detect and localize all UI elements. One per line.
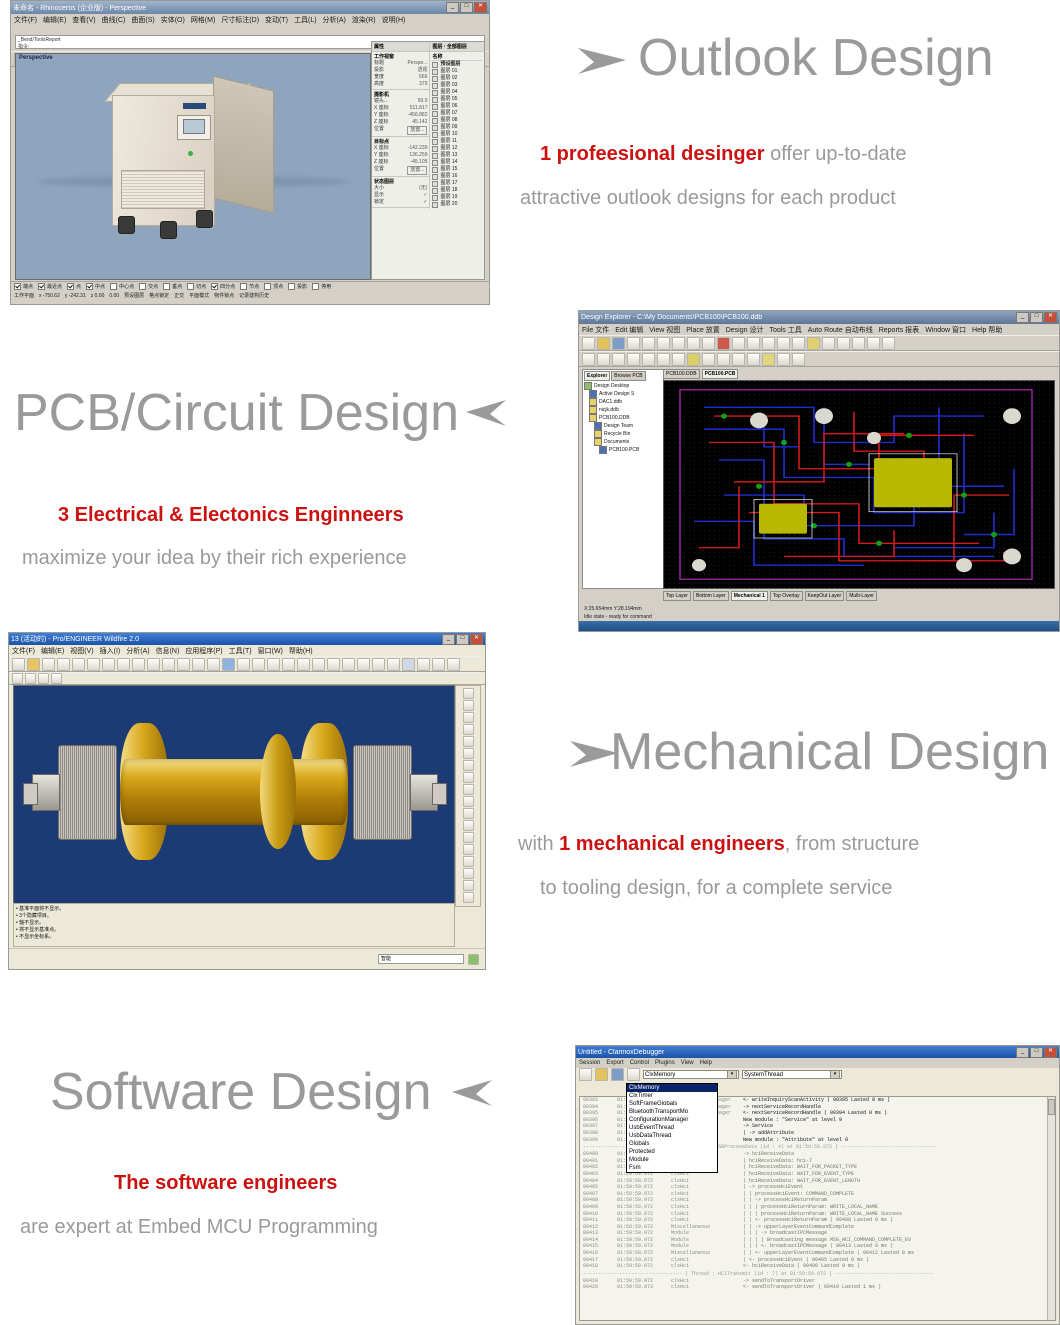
rect-icon[interactable] [762, 337, 775, 350]
datum-axis-icon[interactable] [417, 658, 430, 671]
pcb-layer-tabs[interactable]: Top LayerBottom LayerMechanical 1Top Ove… [663, 591, 1055, 601]
array-icon[interactable] [777, 353, 790, 366]
tree-node[interactable]: Documents [584, 438, 662, 446]
osnap-checkbox[interactable] [288, 283, 295, 290]
maximize-icon[interactable]: □ [460, 2, 473, 13]
osnap-item[interactable]: 点 [67, 283, 81, 290]
cad-menu-8[interactable]: 变动(T) [265, 15, 288, 25]
proe-menu-item[interactable]: 信息(N) [156, 646, 180, 656]
layer-visibility-icon[interactable] [432, 160, 438, 166]
proe-right-toolbar[interactable] [455, 685, 481, 907]
help-icon[interactable] [882, 337, 895, 350]
tree-node[interactable]: Design Desktop [584, 382, 662, 390]
layer-visibility-icon[interactable] [432, 125, 438, 131]
proe-menubar[interactable]: 文件(F)编辑(E)视图(V)插入(I)分析(A)信息(N)应用程序(P)工具(… [9, 645, 485, 656]
cad-menubar[interactable]: 文件(F) 编辑(E) 查看(V) 曲线(C) 曲面(S) 实体(O) 网格(M… [11, 14, 489, 25]
close-icon[interactable]: ✕ [470, 634, 483, 645]
pcb-menu-item[interactable]: Edit 编辑 [615, 325, 643, 335]
layer-item[interactable]: 预设图层 [432, 61, 482, 68]
layer-item[interactable]: 图层 10 [432, 131, 482, 138]
pcb-menu-item[interactable]: Reports 报表 [879, 325, 919, 335]
cad-menu-11[interactable]: 渲染(R) [352, 15, 376, 25]
cad-menu-5[interactable]: 实体(O) [161, 15, 185, 25]
circle-icon[interactable] [747, 353, 760, 366]
fill-icon[interactable] [687, 353, 700, 366]
proe-menu-item[interactable]: 文件(F) [12, 646, 35, 656]
doc-tab-pcb[interactable]: PCB100.PCB [702, 369, 739, 379]
shading-icon[interactable] [402, 658, 415, 671]
copy-icon[interactable] [702, 337, 715, 350]
track-icon[interactable] [612, 353, 625, 366]
maximize-icon[interactable]: □ [1030, 312, 1043, 323]
tree-node[interactable]: PCB100.DDB [584, 414, 662, 422]
log-message: | hciReceiveData: WAIT_FOR_EVENT_TYPE [743, 1171, 854, 1178]
proe-window-buttons[interactable]: _ □ ✕ [442, 634, 483, 645]
delete-icon[interactable] [777, 337, 790, 350]
no-hidden-icon[interactable] [387, 658, 400, 671]
regenerate-icon[interactable] [177, 658, 190, 671]
osnap-row[interactable]: 端点最近点点中点中心点交点垂点切点四分点节点顶点投影停用 [11, 282, 489, 291]
csys-tool-icon[interactable] [463, 736, 474, 747]
mirror-tool-icon[interactable] [463, 880, 474, 891]
proe-menu-item[interactable]: 窗口(W) [258, 646, 283, 656]
wireframe-icon[interactable] [357, 658, 370, 671]
layer-visibility-icon[interactable] [432, 90, 438, 96]
layer-item[interactable]: 图层 12 [432, 145, 482, 152]
dropdown-option[interactable]: ClxTimer [627, 1092, 717, 1100]
tab-browse-pcb[interactable]: Browse PCB [611, 371, 645, 381]
layer-visibility-icon[interactable] [432, 132, 438, 138]
chevron-down-icon[interactable]: ▾ [830, 1070, 840, 1079]
print-icon[interactable] [627, 1068, 640, 1081]
dropdown-option[interactable]: Globals [627, 1140, 717, 1148]
copy-icon[interactable] [147, 658, 160, 671]
print-icon[interactable] [627, 337, 640, 350]
osnap-item[interactable]: 交点 [139, 283, 158, 290]
module-filter-dropdown[interactable]: ClxMemoryClxTimerSoftFrameGlobalsBluetoo… [626, 1083, 718, 1173]
osnap-checkbox[interactable] [38, 283, 45, 290]
scrollbar-thumb[interactable] [1048, 1099, 1055, 1115]
layer-visibility-icon[interactable] [432, 118, 438, 124]
layer-item[interactable]: 图层 02 [432, 75, 482, 82]
print-icon[interactable] [57, 658, 70, 671]
dropdown-option[interactable]: ClxMemory [627, 1084, 717, 1092]
pcb-menu-item[interactable]: View 视图 [649, 325, 680, 335]
merge-tool-icon[interactable] [463, 892, 474, 903]
reorient-icon[interactable] [312, 658, 325, 671]
osnap-checkbox[interactable] [139, 283, 146, 290]
cad-status-area: 端点最近点点中点中心点交点垂点切点四分点节点顶点投影停用 工作平面x -750.… [11, 281, 489, 304]
tree-node[interactable]: nicjk.ddb [584, 406, 662, 414]
dropdown-option[interactable]: UsbEventThread [627, 1124, 717, 1132]
pcb-tree[interactable]: Design DesktopActive Design SDAC1.ddbnic… [584, 382, 662, 454]
via-icon[interactable] [597, 353, 610, 366]
prop-row-button[interactable]: 位置放置... [374, 166, 427, 175]
debugger-menu-item[interactable]: Export [606, 1060, 623, 1066]
cad-menu-4[interactable]: 曲面(S) [131, 15, 154, 25]
minimize-icon[interactable]: _ [1016, 1047, 1029, 1058]
layer-visibility-icon[interactable] [432, 111, 438, 117]
redo-icon[interactable] [117, 658, 130, 671]
cad-window[interactable]: 未命名 - Rhinoceros (企业版) - Perspective _ □… [10, 0, 490, 305]
layer-visibility-icon[interactable] [432, 153, 438, 159]
log-message: | hciReceiveData: WAIT_FOR_EVENT_LENGTH [743, 1178, 860, 1185]
refit-icon[interactable] [297, 658, 310, 671]
revolve-tool-icon[interactable] [463, 760, 474, 771]
redo-icon[interactable] [867, 337, 880, 350]
osnap-checkbox[interactable] [163, 283, 170, 290]
tree-node[interactable]: Active Design S [584, 390, 662, 398]
save-icon[interactable] [612, 337, 625, 350]
maximize-icon[interactable]: □ [1030, 1047, 1043, 1058]
proe-menu-item[interactable]: 分析(A) [126, 646, 149, 656]
axis-tool-icon[interactable] [463, 712, 474, 723]
layer-tab[interactable]: Bottom Layer [693, 591, 729, 601]
layer-visibility-icon[interactable] [432, 97, 438, 103]
cad-menu-1[interactable]: 编辑(E) [43, 15, 66, 25]
zoom-area-icon[interactable] [672, 337, 685, 350]
layer-visibility-icon[interactable] [432, 139, 438, 145]
proe-menu-item[interactable]: 工具(T) [229, 646, 252, 656]
osnap-item[interactable]: 四分点 [211, 283, 235, 290]
save-icon[interactable] [42, 658, 55, 671]
layer-icon[interactable] [342, 658, 355, 671]
cad-menu-9[interactable]: 工具(L) [294, 15, 317, 25]
datum-plane-icon[interactable] [252, 658, 265, 671]
layer-visibility-icon[interactable] [432, 167, 438, 173]
cad-menu-2[interactable]: 查看(V) [72, 15, 95, 25]
dropdown-option[interactable]: Fsm [627, 1164, 717, 1172]
osnap-checkbox[interactable] [67, 283, 74, 290]
plot-icon[interactable] [72, 658, 85, 671]
string-icon[interactable] [627, 353, 640, 366]
pcb-taskbar [579, 621, 1059, 631]
osnap-item[interactable]: 中点 [86, 283, 105, 290]
log-id: 00407 [580, 1191, 617, 1198]
dropdown-option[interactable]: SoftFrameGlobals [627, 1100, 717, 1108]
layer-visibility-icon[interactable] [432, 104, 438, 110]
layer-tab[interactable]: Top Layer [663, 591, 691, 601]
pcb-menu-item[interactable]: Place 放置 [686, 325, 719, 335]
dropdown-option[interactable]: Protected [627, 1148, 717, 1156]
pad-icon[interactable] [582, 353, 595, 366]
layer-visibility-icon[interactable] [432, 146, 438, 152]
zoom-in-icon[interactable] [267, 658, 280, 671]
pcb-menu-item[interactable]: Window 窗口 [925, 325, 966, 335]
osnap-checkbox[interactable] [110, 283, 117, 290]
cad-window-buttons[interactable]: _ □ ✕ [446, 2, 487, 13]
proe-window[interactable]: 13 (活动的) - Pro/ENGINEER Wildfire 2.0 _ □… [8, 632, 486, 970]
extrude-tool-icon[interactable] [463, 748, 474, 759]
cad-menu-0[interactable]: 文件(F) [14, 15, 37, 25]
module-filter-combo[interactable]: ClxMemory ▾ [643, 1070, 739, 1079]
undo-icon[interactable] [852, 337, 865, 350]
layer-item[interactable]: 图层 16 [432, 173, 482, 180]
log-scrollbar[interactable] [1047, 1097, 1055, 1320]
osnap-item[interactable]: 顶点 [264, 283, 283, 290]
layer-item[interactable]: 图层 11 [432, 138, 482, 145]
layer-item[interactable]: 图层 04 [432, 89, 482, 96]
cad-menu-12[interactable]: 说明(H) [382, 15, 406, 25]
close-icon[interactable]: ✕ [1044, 1047, 1057, 1058]
hidden-line-icon[interactable] [372, 658, 385, 671]
layer-item[interactable]: 图层 09 [432, 124, 482, 131]
layer-item[interactable]: 图层 01 [432, 68, 482, 75]
tree-node[interactable]: Recycle Bin [584, 430, 662, 438]
line-icon[interactable] [747, 337, 760, 350]
arc-edge-icon[interactable] [717, 353, 730, 366]
layer-visibility-icon[interactable] [432, 83, 438, 89]
shell-tool-icon[interactable] [463, 832, 474, 843]
dropdown-option[interactable]: UsbDataThread [627, 1132, 717, 1140]
sketch-tool-icon[interactable] [463, 688, 474, 699]
open-session-icon[interactable] [595, 1068, 608, 1081]
chamfer-tool-icon[interactable] [463, 820, 474, 831]
save-session-icon[interactable] [611, 1068, 624, 1081]
tree-node[interactable]: DAC1.ddb [584, 398, 662, 406]
doc-tab-ddb[interactable]: PCB100.DDB [663, 369, 700, 379]
zoom-in-icon[interactable] [642, 337, 655, 350]
csys-icon[interactable] [447, 658, 460, 671]
thread-filter-combo[interactable]: SystemThread ▾ [742, 1070, 842, 1079]
polygon-icon[interactable] [672, 353, 685, 366]
osnap-item[interactable]: 投影 [288, 283, 307, 290]
pencil-icon[interactable] [807, 337, 820, 350]
net-icon[interactable] [822, 337, 835, 350]
layer-visibility-icon[interactable] [432, 62, 438, 68]
sketch-icon[interactable] [12, 673, 23, 684]
osnap-checkbox[interactable] [14, 283, 21, 290]
pcb-document-tabs[interactable]: PCB100.DDB PCB100.PCB [663, 369, 1055, 379]
osnap-item[interactable]: 最近点 [38, 283, 62, 290]
layer-name: 图层 05 [440, 96, 457, 103]
round-tool-icon[interactable] [463, 808, 474, 819]
layer-visibility-icon[interactable] [432, 195, 438, 201]
cad-menu-6[interactable]: 网格(M) [191, 15, 216, 25]
layer-tab[interactable]: Multi-Layer [846, 591, 877, 601]
tab-explorer[interactable]: Explorer [584, 371, 610, 381]
proe-toolbar-2[interactable] [9, 672, 485, 685]
layer-item[interactable]: 图层 14 [432, 159, 482, 166]
arc-any-icon[interactable] [732, 353, 745, 366]
layer-item[interactable]: 图层 15 [432, 166, 482, 173]
debugger-menu-item[interactable]: View [681, 1060, 694, 1066]
status-item: y -242.31 [65, 293, 86, 299]
new-session-icon[interactable] [579, 1068, 592, 1081]
debugger-menu-item[interactable]: Help [700, 1060, 712, 1066]
osnap-item[interactable]: 中心点 [110, 283, 134, 290]
repaint-icon[interactable] [222, 658, 235, 671]
cad-right-panel[interactable]: 属性 工作视窗 标题Perspe... 投影透视 宽度566 高度379 摄影机… [371, 41, 485, 280]
debugger-menubar[interactable]: SessionExportControlPluginsViewHelp [576, 1058, 1059, 1068]
select-icon[interactable] [582, 337, 595, 350]
grid-icon[interactable] [792, 353, 805, 366]
pcb-menubar[interactable]: File 文件Edit 编辑View 视图Place 放置Design 设计To… [579, 324, 1059, 335]
close-icon[interactable]: ✕ [474, 2, 487, 13]
open-icon[interactable] [597, 337, 610, 350]
open-icon[interactable] [27, 658, 40, 671]
paste-icon[interactable] [162, 658, 175, 671]
spin-center-icon[interactable] [237, 658, 250, 671]
layer-visibility-icon[interactable] [432, 69, 438, 75]
zoom-out-icon[interactable] [282, 658, 295, 671]
osnap-checkbox[interactable] [312, 283, 319, 290]
cad-menu-7[interactable]: 尺寸标注(D) [221, 15, 259, 25]
layer-tab[interactable]: KeepOut Layer [805, 591, 845, 601]
model-tree-icon[interactable] [192, 658, 205, 671]
pcb-window-buttons[interactable]: _ □ ✕ [1016, 312, 1057, 323]
prop-row-button[interactable]: 位置放置... [374, 126, 427, 135]
sweep-tool-icon[interactable] [463, 772, 474, 783]
datum-point-icon[interactable] [432, 658, 445, 671]
debugger-window[interactable]: Untitled - ClarinoxDebugger _ □ ✕ Sessio… [575, 1045, 1060, 1325]
coordinate-icon[interactable] [642, 353, 655, 366]
layer-visibility-icon[interactable] [432, 181, 438, 187]
tree-node[interactable]: Design Team [584, 422, 662, 430]
debugger-menu-item[interactable]: Session [579, 1060, 600, 1066]
layer-visibility-icon[interactable] [432, 174, 438, 180]
layer-visibility-icon[interactable] [432, 202, 438, 208]
arrow-right-icon-3 [500, 733, 620, 773]
pcb-panel-tabs[interactable]: Explorer Browse PCB [584, 371, 662, 381]
cut-icon[interactable] [132, 658, 145, 671]
filter-icon[interactable] [468, 954, 479, 965]
debugger-menu-item[interactable]: Control [630, 1060, 649, 1066]
find-icon[interactable] [207, 658, 220, 671]
pattern-tool-icon[interactable] [463, 868, 474, 879]
chevron-down-icon[interactable]: ▾ [727, 1070, 737, 1079]
dropdown-option[interactable]: Module [627, 1156, 717, 1164]
tree-node-label: nicjk.ddb [599, 406, 619, 414]
component-icon[interactable] [732, 337, 745, 350]
layer-item[interactable]: 图层 19 [432, 194, 482, 201]
layer-item[interactable]: 图层 06 [432, 103, 482, 110]
revolve-icon[interactable] [38, 673, 49, 684]
minimize-icon[interactable]: _ [446, 2, 459, 13]
debugger-window-buttons[interactable]: _ □ ✕ [1016, 1047, 1057, 1058]
layers-list[interactable]: 名称 预设图层图层 01图层 02图层 03图层 04图层 05图层 06图层 … [430, 52, 484, 209]
tree-node-label: Design Desktop [594, 382, 629, 390]
cad-menu-3[interactable]: 曲线(C) [102, 15, 126, 25]
pcb-toolbar-2[interactable] [579, 351, 1059, 367]
cabinet-wheel-mid [160, 221, 177, 239]
proe-menu-item[interactable]: 视图(V) [70, 646, 93, 656]
osnap-checkbox[interactable] [240, 283, 247, 290]
layer-tab[interactable]: Top Overlay [770, 591, 803, 601]
osnap-checkbox[interactable] [187, 283, 194, 290]
new-icon[interactable] [12, 658, 25, 671]
layer-item[interactable]: 图层 13 [432, 152, 482, 159]
log-time: 01:59:59.972 [617, 1278, 671, 1285]
draft-tool-icon[interactable] [463, 856, 474, 867]
arc-center-icon[interactable] [702, 353, 715, 366]
pcb-menu-item[interactable]: Help 帮助 [972, 325, 1002, 335]
layer-item[interactable]: 图层 17 [432, 180, 482, 187]
point-tool-icon[interactable] [463, 724, 474, 735]
room-icon[interactable] [762, 353, 775, 366]
osnap-item[interactable]: 节点 [240, 283, 259, 290]
proe-menu-item[interactable]: 应用程序(P) [185, 646, 222, 656]
log-message: <- writeInquiryScanActivity ( 00395 Last… [743, 1097, 890, 1104]
proe-menu-item[interactable]: 帮助(H) [289, 646, 313, 656]
blend-tool-icon[interactable] [463, 784, 474, 795]
cut-icon[interactable] [687, 337, 700, 350]
pcb-menu-item[interactable]: File 文件 [582, 325, 609, 335]
pcb-status-coords: X:25.654mm Y:28.194mm [584, 605, 1056, 613]
maximize-icon[interactable]: □ [456, 634, 469, 645]
cad-viewport[interactable]: Perspective [15, 53, 371, 280]
osnap-checkbox[interactable] [211, 283, 218, 290]
add-icon[interactable] [792, 337, 805, 350]
saved-view-icon[interactable] [327, 658, 340, 671]
layer-tab[interactable]: Mechanical 1 [731, 591, 768, 601]
extrude-icon[interactable] [25, 673, 36, 684]
proe-toolbar[interactable] [9, 656, 485, 672]
route-icon[interactable] [717, 337, 730, 350]
osnap-item[interactable]: 切点 [187, 283, 206, 290]
osnap-item[interactable]: 垂点 [163, 283, 182, 290]
cad-menu-10[interactable]: 分析(A) [323, 15, 346, 25]
minimize-icon[interactable]: _ [442, 634, 455, 645]
layer-item[interactable]: 图层 20 [432, 201, 482, 208]
proe-menu-item[interactable]: 编辑(E) [41, 646, 64, 656]
layer-visibility-icon[interactable] [432, 188, 438, 194]
dropdown-option[interactable]: ConfigurationManager [627, 1116, 717, 1124]
undo-icon[interactable] [102, 658, 115, 671]
zoom-out-icon[interactable] [657, 337, 670, 350]
layer-item[interactable]: 图层 08 [432, 117, 482, 124]
pcb-toolbar-1[interactable] [579, 335, 1059, 351]
debugger-toolbar[interactable]: ClxMemory ▾ SystemThread ▾ [576, 1068, 1059, 1081]
cabinet-wheel-right [196, 210, 213, 228]
log-time: 01:59:59.972 [617, 1237, 671, 1244]
debugger-menu-item[interactable]: Plugins [655, 1060, 675, 1066]
proe-viewport[interactable] [13, 685, 455, 907]
selection-filter-select[interactable]: 智能 [378, 954, 464, 964]
tree-node[interactable]: PCB100.PCB [584, 446, 662, 454]
mail-icon[interactable] [87, 658, 100, 671]
osnap-label: 端点 [23, 283, 33, 290]
hole-icon[interactable] [51, 673, 62, 684]
layer-item[interactable]: 图层 03 [432, 82, 482, 89]
layer-visibility-icon[interactable] [432, 76, 438, 82]
osnap-item[interactable]: 端点 [14, 283, 33, 290]
layer-item[interactable]: 图层 05 [432, 96, 482, 103]
close-icon[interactable]: ✕ [1044, 312, 1057, 323]
drc-icon[interactable] [837, 337, 850, 350]
minimize-icon[interactable]: _ [1016, 312, 1029, 323]
pcb-explorer-panel[interactable]: Explorer Browse PCB Design DesktopActive… [582, 369, 664, 589]
pcb-menu-item[interactable]: Tools 工具 [769, 325, 801, 335]
dropdown-option[interactable]: BluetoothTransportMo [627, 1108, 717, 1116]
pcb-canvas[interactable] [663, 380, 1055, 589]
datum-plane-tool-icon[interactable] [463, 700, 474, 711]
pcb-menu-item[interactable]: Design 设计 [726, 325, 764, 335]
osnap-checkbox[interactable] [86, 283, 93, 290]
layer-item[interactable]: 图层 18 [432, 187, 482, 194]
proe-menu-item[interactable]: 插入(I) [100, 646, 121, 656]
proe-bottom-bar[interactable]: 智能 [9, 948, 485, 969]
hole-tool-icon[interactable] [463, 796, 474, 807]
rib-tool-icon[interactable] [463, 844, 474, 855]
osnap-item[interactable]: 停用 [312, 283, 331, 290]
tree-node-label: PCB100.DDB [599, 414, 630, 422]
pcb-window[interactable]: Design Explorer - C:\My Documents\PCB100… [578, 310, 1060, 632]
layer-item[interactable]: 图层 07 [432, 110, 482, 117]
osnap-checkbox[interactable] [264, 283, 271, 290]
dimension-icon[interactable] [657, 353, 670, 366]
pcb-menu-item[interactable]: Auto Route 自动布线 [808, 325, 873, 335]
